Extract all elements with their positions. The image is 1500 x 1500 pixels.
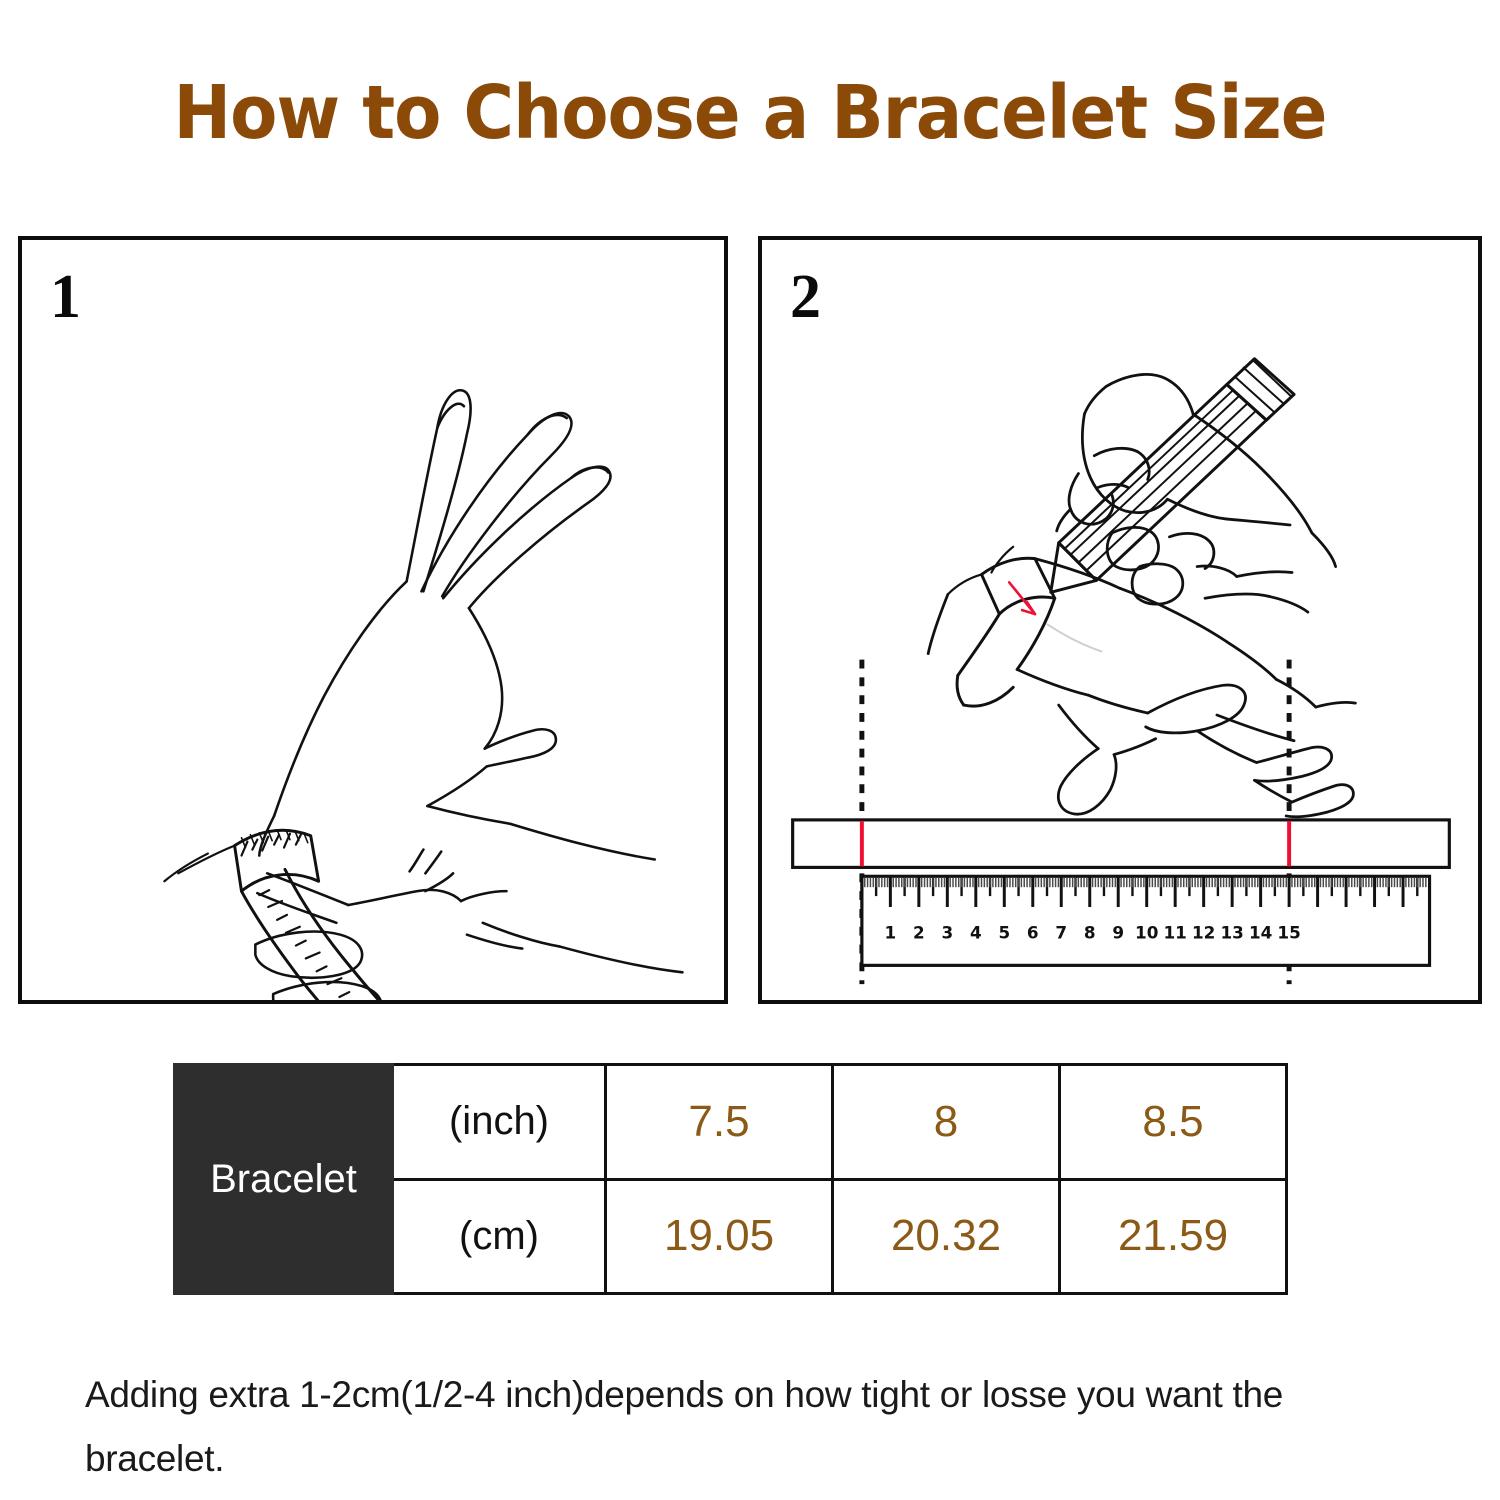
inch-value-2: 8 [833, 1065, 1060, 1180]
ruler-tick-label: 14 [1249, 923, 1272, 943]
table-row-inch: Bracelet (inch) 7.5 8 8.5 [175, 1065, 1287, 1180]
ruler-tick-label: 6 [1027, 923, 1039, 943]
bracelet-size-table: Bracelet (inch) 7.5 8 8.5 (cm) 19.05 20.… [173, 1063, 1288, 1295]
ruler-tick-label: 8 [1084, 923, 1096, 943]
cm-value-2: 20.32 [833, 1179, 1060, 1294]
inch-value-3: 8.5 [1060, 1065, 1287, 1180]
mark-strip-and-ruler-illustration: 123456789101112131415 [762, 240, 1478, 1000]
wrist-tape-measure-illustration [22, 240, 724, 1000]
unit-label-cm: (cm) [393, 1179, 606, 1294]
paper-strip [793, 820, 1450, 868]
panel-step-2: 2 [758, 236, 1482, 1004]
table-row-label: Bracelet [175, 1065, 393, 1294]
ruler-tick-label: 4 [970, 923, 982, 943]
ruler-tick-label: 7 [1055, 923, 1067, 943]
page-title: How to Choose a Bracelet Size [53, 76, 1448, 150]
sizing-footnote: Adding extra 1-2cm(1/2-4 inch)depends on… [85, 1363, 1425, 1490]
panel-step-1: 1 [18, 236, 728, 1004]
ruler-tick-label: 9 [1112, 923, 1124, 943]
ruler-tick-label: 15 [1277, 923, 1300, 943]
unit-label-inch: (inch) [393, 1065, 606, 1180]
cm-value-1: 19.05 [606, 1179, 833, 1294]
ruler-tick-label: 13 [1220, 923, 1243, 943]
inch-value-1: 7.5 [606, 1065, 833, 1180]
ruler-tick-label: 3 [941, 923, 953, 943]
ruler-tick-label: 1 [885, 923, 897, 943]
ruler-tick-label: 2 [913, 923, 925, 943]
ruler-tick-label: 10 [1135, 923, 1158, 943]
cm-value-3: 21.59 [1060, 1179, 1287, 1294]
ruler-tick-label: 5 [998, 923, 1010, 943]
ruler-tick-label: 12 [1192, 923, 1215, 943]
ruler-tick-label: 11 [1163, 923, 1186, 943]
